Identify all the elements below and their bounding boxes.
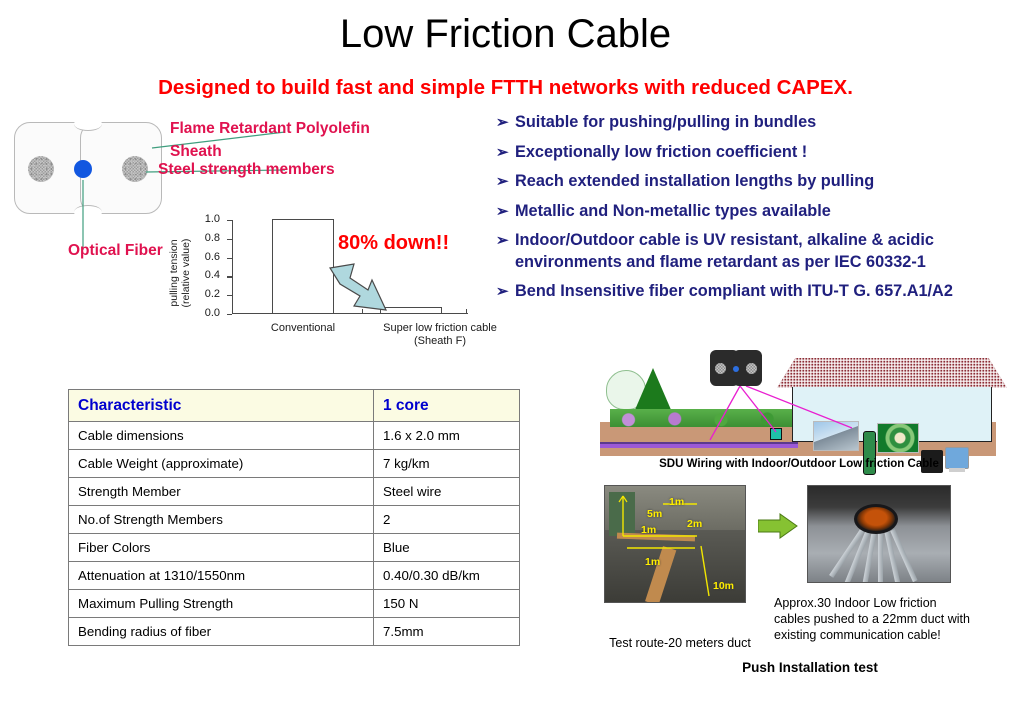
cell-value: 2 (374, 506, 520, 534)
y-tick-2: 0.8 (227, 239, 232, 240)
feature-bullet-list: ➢ Suitable for pushing/pulling in bundle… (496, 112, 1001, 311)
bullet-marker-icon: ➢ (496, 171, 509, 193)
measurement-1m-bottom: 1m (645, 556, 660, 568)
y-label-line2: (relative value) (180, 239, 192, 308)
chart-y-axis (232, 220, 233, 314)
label-steel-members: Steel strength members (158, 161, 335, 179)
cell-characteristic: Attenuation at 1310/1550nm (69, 562, 374, 590)
cell-value: 150 N (374, 590, 520, 618)
cell-characteristic: No.of Strength Members (69, 506, 374, 534)
push-installation-title: Push Installation test (620, 660, 1000, 675)
table-row: Fiber Colors Blue (69, 534, 520, 562)
callout-fiber-icon (733, 366, 739, 372)
table-header-row: Characteristic 1 core (69, 390, 520, 422)
table-row: Attenuation at 1310/1550nm 0.40/0.30 dB/… (69, 562, 520, 590)
bullet-item-5: ➢ Indoor/Outdoor cable is UV resistant, … (496, 230, 1001, 273)
bullet-item-6: ➢ Bend Insensitive fiber compliant with … (496, 281, 1001, 303)
bullet-text-5: Indoor/Outdoor cable is UV resistant, al… (515, 231, 934, 271)
test-route-photo: 1m 5m 2m 1m 1m 10m (604, 485, 746, 603)
sdu-wiring-illustration (600, 344, 998, 472)
column-header-1-core: 1 core (374, 390, 520, 422)
bullet-marker-icon: ➢ (496, 281, 509, 303)
test-route-caption: Test route-20 meters duct (590, 636, 770, 650)
measurement-5m: 5m (647, 508, 662, 520)
specification-table: Characteristic 1 core Cable dimensions 1… (68, 389, 520, 646)
cell-value: 0.40/0.30 dB/km (374, 562, 520, 590)
bullet-marker-icon: ➢ (496, 230, 509, 252)
cell-value: 7.5mm (374, 618, 520, 646)
label-optical-fiber: Optical Fiber (68, 242, 163, 260)
y-tick-6: 0.0 (227, 314, 232, 315)
cell-value: 7 kg/km (374, 450, 520, 478)
table-row: Strength Member Steel wire (69, 478, 520, 506)
cell-characteristic: Strength Member (69, 478, 374, 506)
y-tick-5: 0.2 (227, 295, 232, 296)
column-header-characteristic: Characteristic (69, 390, 374, 422)
bullet-text-2: Exceptionally low friction coefficient ! (515, 143, 807, 161)
slide-root: Low Friction Cable Designed to build fas… (0, 0, 1011, 715)
decrease-arrow-icon (328, 262, 388, 316)
x-category-super-low-friction: Super low friction cable (Sheath F) (350, 322, 530, 348)
bullet-marker-icon: ➢ (496, 142, 509, 164)
cell-characteristic: Fiber Colors (69, 534, 374, 562)
measurement-2m: 2m (687, 518, 702, 530)
y-label-line1: pulling tension (168, 239, 180, 306)
x-tick-4 (466, 309, 467, 314)
sdu-caption: SDU Wiring with Indoor/Outdoor Low frict… (600, 458, 998, 470)
x-category-conventional: Conventional (242, 322, 364, 335)
bullet-item-1: ➢ Suitable for pushing/pulling in bundle… (496, 112, 1001, 134)
table-row: Cable Weight (approximate) 7 kg/km (69, 450, 520, 478)
cable-strand (878, 530, 883, 583)
bullet-marker-icon: ➢ (496, 201, 509, 223)
cable-callout-enlarged (710, 350, 762, 386)
table-row: No.of Strength Members 2 (69, 506, 520, 534)
push-test-description: Approx.30 Indoor Low friction cables pus… (774, 595, 974, 643)
y-tick-1: 1.0 (227, 220, 232, 221)
callout-steel-right-icon (746, 363, 757, 374)
label-sheath-line2: Sheath (170, 143, 222, 161)
bullet-item-2: ➢ Exceptionally low friction coefficient… (496, 142, 1001, 164)
measurement-1m-left: 1m (641, 524, 656, 536)
table-row: Cable dimensions 1.6 x 2.0 mm (69, 422, 520, 450)
bar-super-low-friction (380, 307, 442, 313)
cell-value: Steel wire (374, 478, 520, 506)
measurement-1m-top: 1m (669, 496, 684, 508)
bullet-item-3: ➢ Reach extended installation lengths by… (496, 171, 1001, 193)
measurement-10m: 10m (713, 580, 734, 592)
cables-in-duct-photo (807, 485, 951, 583)
percent-down-annotation: 80% down!! (338, 232, 449, 255)
cell-characteristic: Maximum Pulling Strength (69, 590, 374, 618)
label-sheath-line1: Flame Retardant Polyolefin (170, 120, 370, 138)
bar-conventional (272, 219, 334, 313)
duct-opening (854, 504, 898, 534)
table-row: Maximum Pulling Strength 150 N (69, 590, 520, 618)
callout-leader-lines (600, 344, 998, 472)
page-subtitle: Designed to build fast and simple FTTH n… (0, 76, 1011, 100)
cell-characteristic: Bending radius of fiber (69, 618, 374, 646)
bullet-text-6: Bend Insensitive fiber compliant with IT… (515, 282, 953, 300)
y-tick-4: 0.4 (227, 276, 232, 277)
process-arrow-icon (758, 513, 798, 539)
cell-value: Blue (374, 534, 520, 562)
bullet-item-4: ➢ Metallic and Non-metallic types availa… (496, 201, 1001, 223)
page-title: Low Friction Cable (0, 12, 1011, 57)
cell-characteristic: Cable Weight (approximate) (69, 450, 374, 478)
callout-steel-left-icon (715, 363, 726, 374)
y-tick-3: 0.6 (227, 258, 232, 259)
bullet-text-3: Reach extended installation lengths by p… (515, 172, 874, 190)
bullet-text-4: Metallic and Non-metallic types availabl… (515, 202, 831, 220)
bullet-text-1: Suitable for pushing/pulling in bundles (515, 113, 816, 131)
table-row: Bending radius of fiber 7.5mm (69, 618, 520, 646)
bullet-marker-icon: ➢ (496, 112, 509, 134)
cell-value: 1.6 x 2.0 mm (374, 422, 520, 450)
cell-characteristic: Cable dimensions (69, 422, 374, 450)
